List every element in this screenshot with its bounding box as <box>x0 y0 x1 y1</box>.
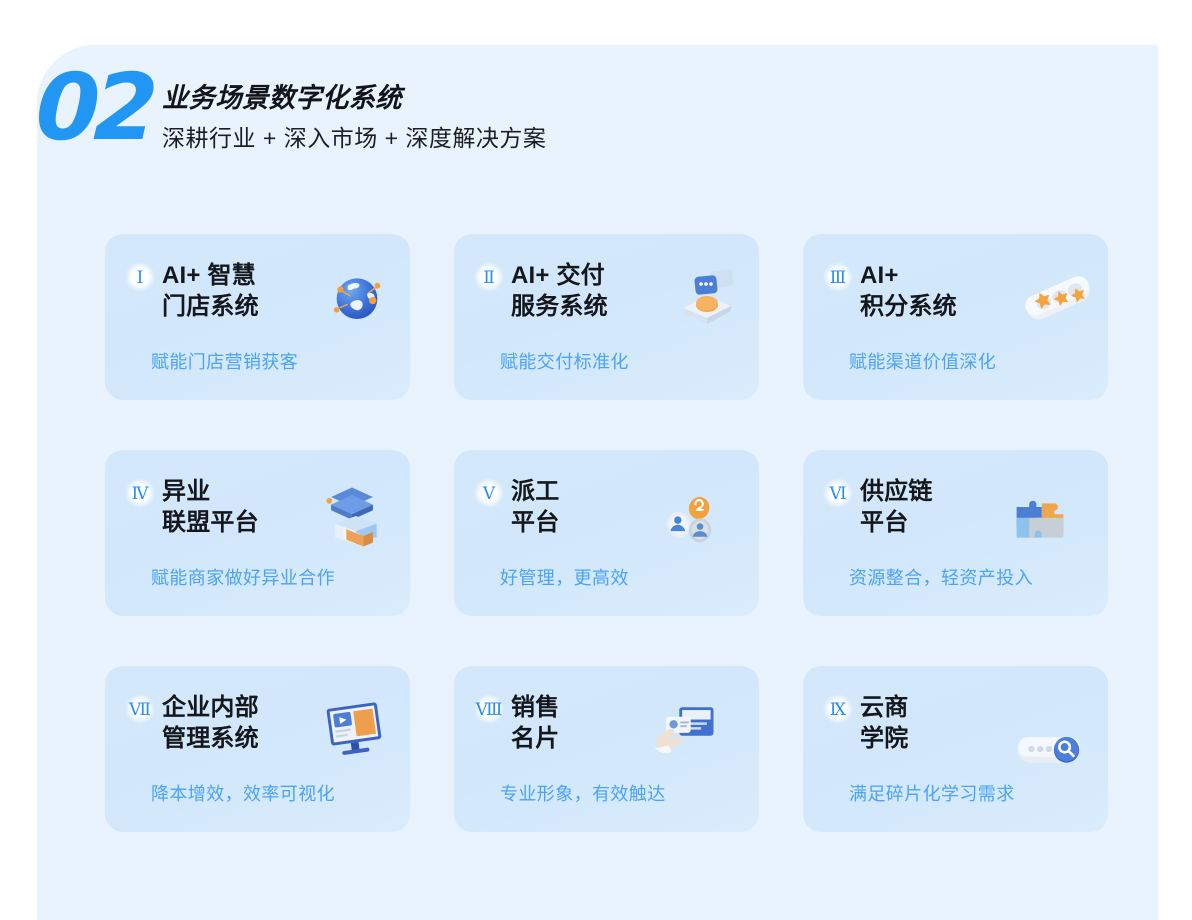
card-head: ⅠAI+ 智慧 门店系统 <box>127 260 390 322</box>
card-numeral-badge: Ⅷ <box>476 696 502 722</box>
card-subtitle: 满足碎片化学习需求 <box>849 780 1015 806</box>
card-title: AI+ 积分系统 <box>860 260 957 322</box>
card-numeral: Ⅲ <box>830 269 846 286</box>
card-subtitle: 赋能渠道价值深化 <box>849 348 996 374</box>
feature-card[interactable]: ⅡAI+ 交付 服务系统赋能交付标准化 <box>454 234 759 400</box>
card-subtitle: 好管理，更高效 <box>500 564 629 590</box>
card-head: ⅢAI+ 积分系统 <box>825 260 1088 322</box>
card-subtitle: 专业形象，有效触达 <box>500 780 666 806</box>
card-title: 异业 联盟平台 <box>162 476 259 538</box>
feature-card[interactable]: Ⅷ销售 名片专业形象，有效触达 <box>454 666 759 832</box>
card-numeral: Ⅳ <box>132 485 149 502</box>
card-numeral-badge: Ⅸ <box>825 696 851 722</box>
page-title: 业务场景数字化系统 <box>162 82 535 116</box>
card-head: Ⅷ销售 名片 <box>476 692 739 754</box>
card-title: 企业内部 管理系统 <box>162 692 259 754</box>
card-numeral-badge: Ⅶ <box>127 696 153 722</box>
card-head: Ⅵ供应链 平台 <box>825 476 1088 538</box>
card-numeral-badge: Ⅴ <box>476 480 502 506</box>
feature-card[interactable]: ⅢAI+ 积分系统赋能渠道价值深化 <box>803 234 1108 400</box>
card-numeral: Ⅷ <box>476 701 503 718</box>
card-numeral-badge: Ⅵ <box>825 480 851 506</box>
card-title: 派工 平台 <box>511 476 559 538</box>
card-title: AI+ 交付 服务系统 <box>511 260 608 322</box>
card-head: Ⅸ云商 学院 <box>825 692 1088 754</box>
card-subtitle: 赋能商家做好异业合作 <box>151 564 335 590</box>
card-subtitle: 资源整合，轻资产投入 <box>849 564 1033 590</box>
card-head: Ⅶ企业内部 管理系统 <box>127 692 390 754</box>
card-numeral: Ⅴ <box>483 485 495 502</box>
card-subtitle: 赋能交付标准化 <box>500 348 629 374</box>
card-subtitle: 降本增效，效率可视化 <box>151 780 335 806</box>
card-title: 供应链 平台 <box>860 476 933 538</box>
card-title: AI+ 智慧 门店系统 <box>162 260 259 322</box>
card-numeral-badge: Ⅲ <box>825 264 851 290</box>
card-head: Ⅴ派工 平台 <box>476 476 739 538</box>
section-number: 02 <box>34 62 153 154</box>
card-numeral: Ⅰ <box>137 269 144 286</box>
feature-card[interactable]: ⅠAI+ 智慧 门店系统赋能门店营销获客 <box>105 234 410 400</box>
card-numeral: Ⅵ <box>829 485 846 502</box>
card-numeral: Ⅸ <box>830 701 846 718</box>
card-head: ⅡAI+ 交付 服务系统 <box>476 260 739 322</box>
card-subtitle: 赋能门店营销获客 <box>151 348 298 374</box>
card-grid: ⅠAI+ 智慧 门店系统赋能门店营销获客 ⅡAI+ 交付 服务系统赋能交付标准化… <box>105 234 1108 832</box>
feature-card[interactable]: Ⅶ企业内部 管理系统降本增效，效率可视化 <box>105 666 410 832</box>
card-numeral: Ⅱ <box>483 269 495 286</box>
slide-header: 02 业务场景数字化系统 深耕行业 + 深入市场 + 深度解决方案 <box>0 0 1192 170</box>
card-title: 云商 学院 <box>860 692 908 754</box>
feature-card[interactable]: Ⅸ云商 学院满足碎片化学习需求 <box>803 666 1108 832</box>
card-numeral-badge: Ⅳ <box>127 480 153 506</box>
feature-card[interactable]: Ⅵ供应链 平台资源整合，轻资产投入 <box>803 450 1108 616</box>
card-numeral-badge: Ⅰ <box>127 264 153 290</box>
feature-card[interactable]: Ⅴ派工 平台好管理，更高效 <box>454 450 759 616</box>
card-numeral: Ⅶ <box>129 701 151 718</box>
header-text-block: 业务场景数字化系统 深耕行业 + 深入市场 + 深度解决方案 <box>162 82 546 154</box>
slide-root: 02 业务场景数字化系统 深耕行业 + 深入市场 + 深度解决方案 ⅠAI+ 智… <box>0 0 1192 920</box>
feature-card[interactable]: Ⅳ异业 联盟平台赋能商家做好异业合作 <box>105 450 410 616</box>
card-head: Ⅳ异业 联盟平台 <box>127 476 390 538</box>
page-subtitle: 深耕行业 + 深入市场 + 深度解决方案 <box>162 124 546 154</box>
card-title: 销售 名片 <box>511 692 559 754</box>
card-numeral-badge: Ⅱ <box>476 264 502 290</box>
